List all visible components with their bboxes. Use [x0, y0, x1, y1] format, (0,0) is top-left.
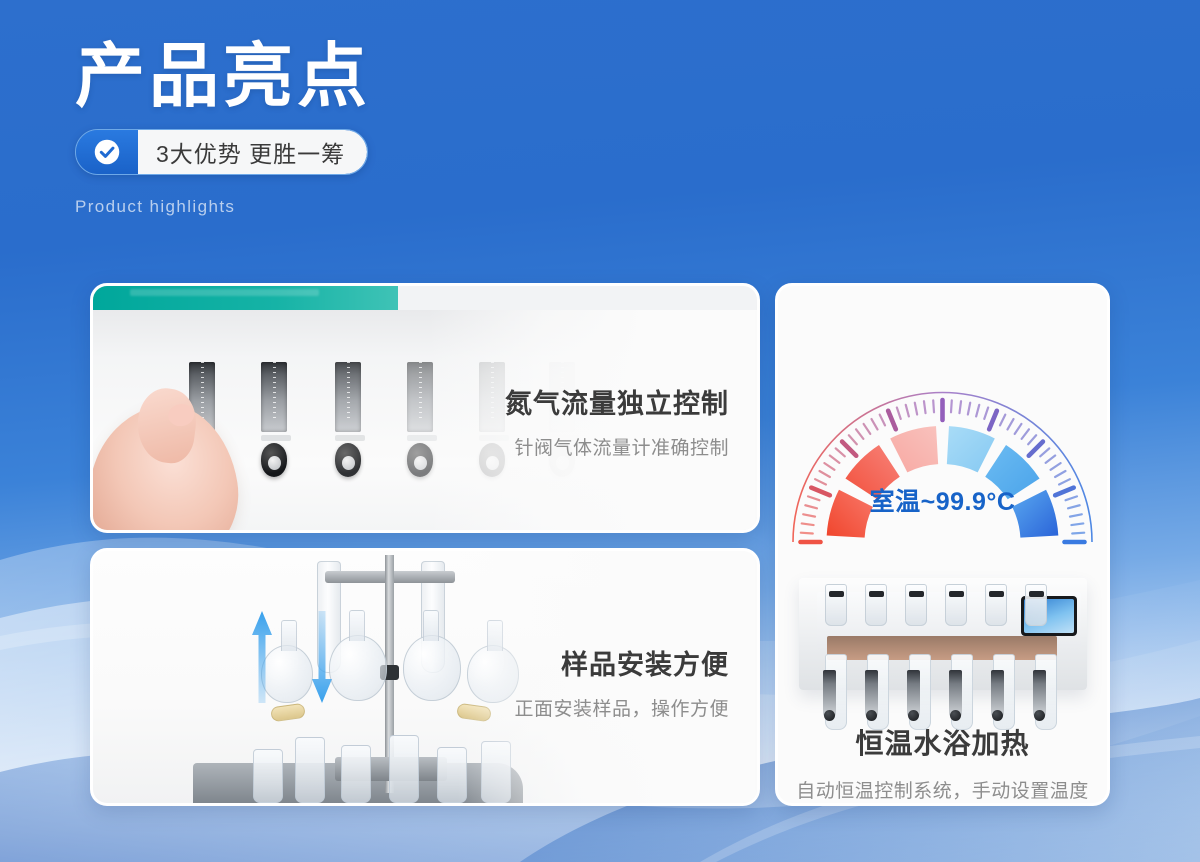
- card-subtitle: 自动恒温控制系统，手动设置温度: [796, 776, 1089, 803]
- flow-meter: [335, 356, 361, 477]
- card-subtitle: 正面安装样品，操作方便: [514, 694, 729, 721]
- advantages-badge-label: 3大优势 更胜一筹: [138, 130, 367, 174]
- caption-water-bath: 恒温水浴加热 自动恒温控制系统，手动设置温度: [796, 722, 1089, 803]
- flow-meter: [261, 356, 287, 477]
- gauge-temperature-label: 室温~99.9°C: [775, 482, 1110, 518]
- caption-nitrogen-flow: 氮气流量独立控制 针阀气体流量计准确控制: [505, 382, 729, 460]
- card-title: 样品安装方便: [514, 643, 729, 682]
- feature-card-water-bath: 室温~99.9°C 恒温水浴加热 自动恒温控制系统，手动设置温度: [775, 283, 1110, 806]
- page-header: 产品亮点 3大优势 更胜一筹 Product highlights: [75, 42, 775, 217]
- page-title: 产品亮点: [75, 42, 775, 113]
- arrow-down-icon: [311, 609, 333, 705]
- caption-sample-install: 样品安装方便 正面安装样品，操作方便: [514, 643, 729, 721]
- feature-card-nitrogen-flow: 氮气流量独立控制 针阀气体流量计准确控制: [90, 283, 760, 533]
- card-title: 氮气流量独立控制: [505, 382, 729, 421]
- hand-photo: [90, 395, 249, 533]
- card-subtitle: 针阀气体流量计准确控制: [505, 433, 729, 460]
- feature-card-sample-install: 样品安装方便 正面安装样品，操作方便: [90, 548, 760, 806]
- check-circle-icon: [76, 130, 138, 174]
- page-subtitle-en: Product highlights: [75, 197, 775, 217]
- product-highlights-page: 产品亮点 3大优势 更胜一筹 Product highlights: [0, 0, 1200, 862]
- temperature-gauge: 室温~99.9°C: [775, 328, 1110, 558]
- advantages-badge: 3大优势 更胜一筹: [75, 129, 368, 175]
- arrow-up-icon: [251, 609, 273, 705]
- teal-header-bar: [93, 286, 398, 310]
- water-bath-machine-photo: [793, 530, 1093, 700]
